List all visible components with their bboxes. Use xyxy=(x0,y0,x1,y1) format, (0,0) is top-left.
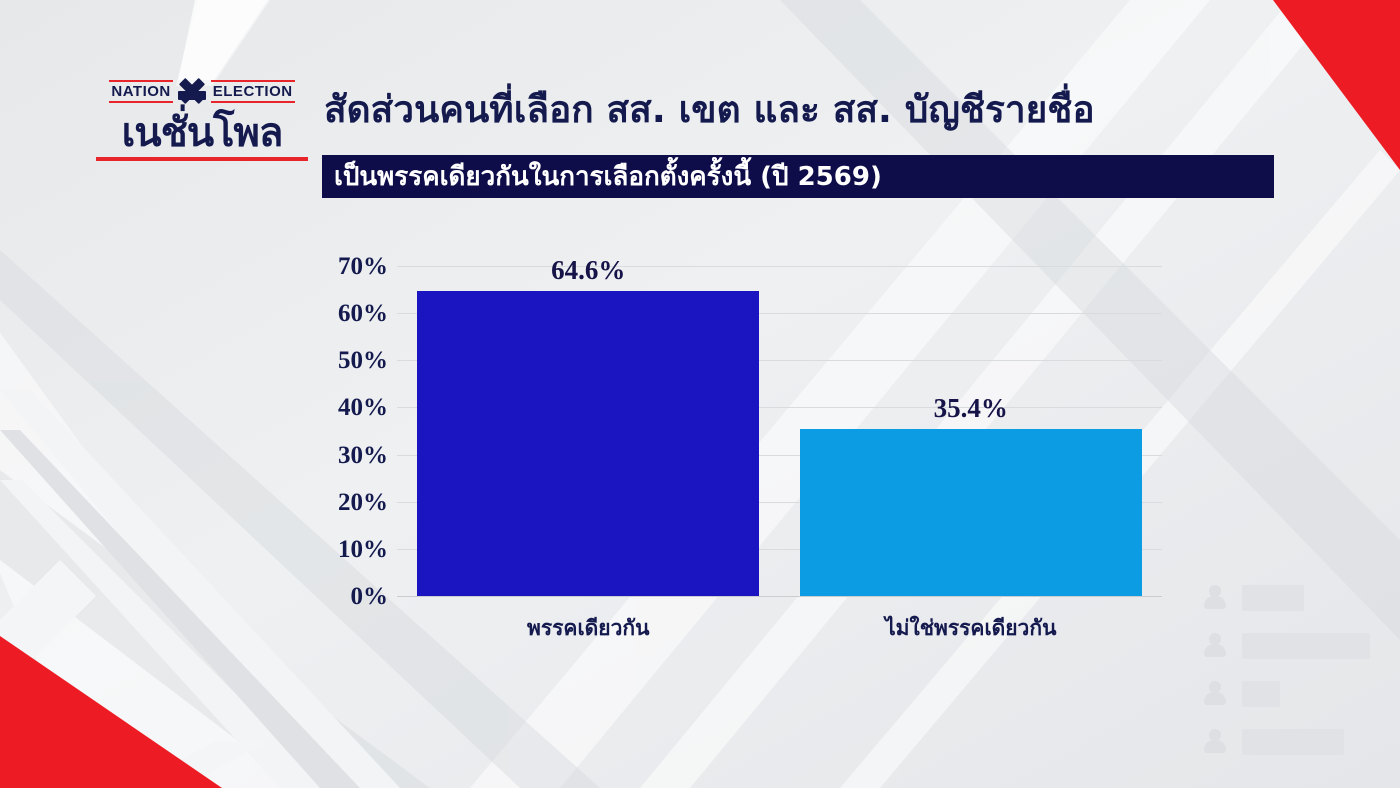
plot-area: 64.6%35.4% xyxy=(397,266,1162,596)
x-axis-baseline xyxy=(397,596,1162,597)
page-subtitle: เป็นพรรคเดียวกันในการเลือกตั้งครั้งนี้ (… xyxy=(322,162,882,192)
page-title: สัดส่วนคนที่เลือก สส. เขต และ สส. บัญชีร… xyxy=(324,88,1095,132)
logo-word-election: ELECTION xyxy=(211,80,295,103)
subtitle-band: เป็นพรรคเดียวกันในการเลือกตั้งครั้งนี้ (… xyxy=(322,155,1274,198)
header: NATION ELECTION เนชั่นโพล สัดส่วนคนที่เล… xyxy=(0,0,1400,215)
bar-2[interactable] xyxy=(800,429,1142,596)
y-axis-tick-label: 60% xyxy=(338,301,388,326)
nation-poll-logo: NATION ELECTION เนชั่นโพล xyxy=(96,76,308,161)
y-axis-tick-label: 50% xyxy=(338,348,388,373)
y-axis-tick-label: 70% xyxy=(338,254,388,279)
y-axis: 0%10%20%30%40%50%60%70% xyxy=(296,255,388,610)
bar-value-label: 35.4% xyxy=(800,393,1142,424)
x-mark-icon xyxy=(179,78,205,104)
logo-top-row: NATION ELECTION xyxy=(96,76,308,106)
y-axis-tick-label: 40% xyxy=(338,395,388,420)
x-axis-category-label: ไม่ใช่พรรคเดียวกัน xyxy=(800,612,1142,645)
bar-value-label: 64.6% xyxy=(417,255,759,286)
y-axis-tick-label: 10% xyxy=(338,537,388,562)
y-axis-tick-label: 0% xyxy=(351,584,389,609)
y-axis-tick-label: 30% xyxy=(338,443,388,468)
logo-underline xyxy=(96,157,308,161)
logo-thai-text: เนชั่นโพล xyxy=(96,110,308,156)
bar-1[interactable] xyxy=(417,291,759,596)
x-axis-category-label: พรรคเดียวกัน xyxy=(417,612,759,645)
logo-word-nation: NATION xyxy=(109,80,172,103)
y-axis-tick-label: 20% xyxy=(338,490,388,515)
